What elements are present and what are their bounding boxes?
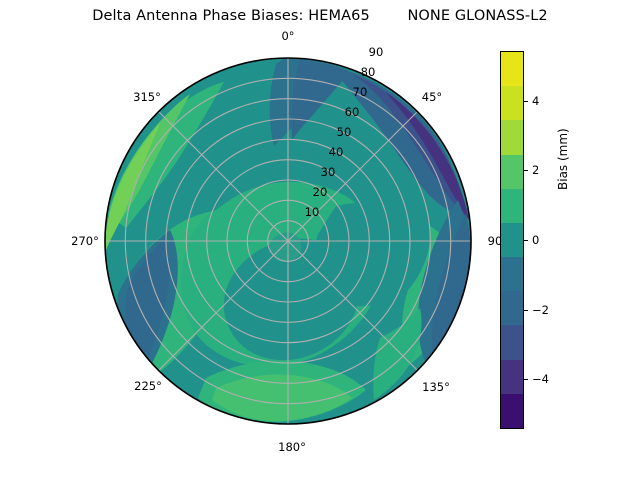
r-label-60: 60 <box>345 105 360 119</box>
colorbar-tickmark-m2 <box>524 310 528 311</box>
polar-grid-spokes <box>105 58 471 424</box>
colorbar-tick-label-2: 2 <box>532 163 539 177</box>
figure-canvas: Delta Antenna Phase Biases: HEMA65 NONE … <box>0 0 640 480</box>
colorbar[interactable] <box>500 51 524 429</box>
colorbar-band <box>501 360 523 394</box>
r-label-90: 90 <box>369 45 384 59</box>
theta-label-180: 180° <box>278 440 306 454</box>
colorbar-band <box>501 189 523 223</box>
colorbar-band <box>501 257 523 291</box>
colorbar-tick-label-0: 0 <box>532 233 539 247</box>
r-label-70: 70 <box>353 85 368 99</box>
theta-label-135: 135° <box>422 380 450 394</box>
colorbar-band <box>501 291 523 325</box>
r-label-50: 50 <box>337 125 352 139</box>
r-label-40: 40 <box>329 145 344 159</box>
colorbar-tickmark-m4 <box>524 379 528 380</box>
theta-label-315: 315° <box>133 90 161 104</box>
theta-label-0: 0° <box>281 29 294 43</box>
theta-label-225: 225° <box>134 379 162 393</box>
colorbar-axis-label: Bias (mm) <box>556 128 570 190</box>
colorbar-tickmark-4 <box>524 101 528 102</box>
r-label-20: 20 <box>313 185 328 199</box>
colorbar-band <box>501 325 523 359</box>
theta-label-270: 270° <box>71 234 99 248</box>
colorbar-band <box>501 120 523 154</box>
colorbar-tickmark-0 <box>524 240 528 241</box>
r-label-30: 30 <box>321 165 336 179</box>
colorbar-band <box>501 86 523 120</box>
colorbar-tick-label-minus2: −2 <box>532 303 549 317</box>
colorbar-band <box>501 52 523 86</box>
colorbar-band <box>501 155 523 189</box>
r-label-80: 80 <box>361 65 376 79</box>
colorbar-tick-label-4: 4 <box>532 94 539 108</box>
colorbar-tickmark-2 <box>524 170 528 171</box>
colorbar-band <box>501 394 523 428</box>
colorbar-band <box>501 223 523 257</box>
polar-axes-svg: 0° 45° 90 135° 180° 225° 270° 315° 10 20… <box>0 0 640 480</box>
theta-label-45: 45° <box>422 90 442 104</box>
polar-plot: 0° 45° 90 135° 180° 225° 270° 315° 10 20… <box>0 0 640 480</box>
r-label-10: 10 <box>305 205 320 219</box>
colorbar-tick-label-minus4: −4 <box>532 372 549 386</box>
